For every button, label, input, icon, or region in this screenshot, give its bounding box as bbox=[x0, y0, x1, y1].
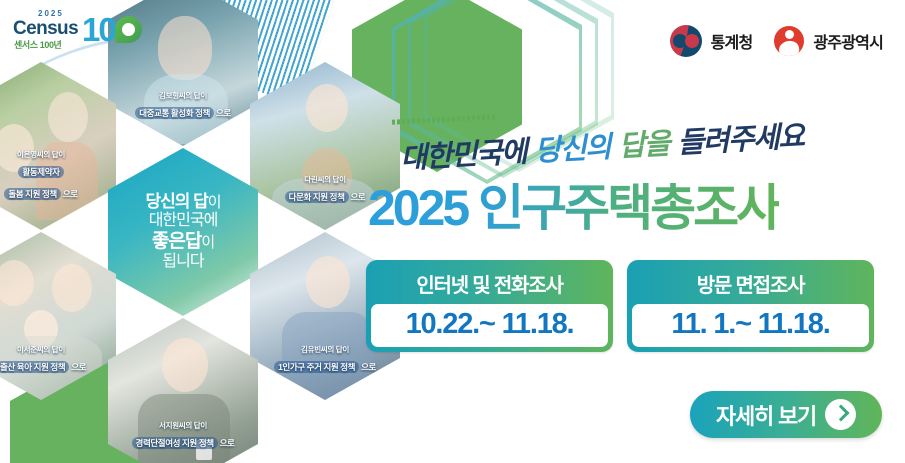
caption-young-family: 이서준씨의 답이 출산 육아 지원 정책 으로 bbox=[0, 345, 116, 377]
view-details-label: 자세히 보기 bbox=[716, 399, 816, 431]
logo-korean-subtitle: 센서스 100년 bbox=[14, 38, 61, 51]
agency-logos: 통계청 광주광역시 bbox=[670, 25, 883, 57]
agency-gwangju-city[interactable]: 광주광역시 bbox=[774, 26, 883, 56]
caption-bus-commuter: 김보형씨의 답이 대중교통 활성화 정책 으로 bbox=[108, 91, 258, 123]
caption-policy: 대중교통 활성화 정책 으로 bbox=[135, 108, 231, 119]
logo-year: 2025 bbox=[38, 9, 64, 18]
survey-box-internet-phone[interactable]: 인터넷 및 전화조사 10.22.~ 11.18. bbox=[366, 260, 613, 352]
slogan-line1-strong: 당신의 답 bbox=[145, 192, 207, 211]
chevron-right-circle-icon bbox=[825, 399, 856, 430]
census-banner: 김보형씨의 답이 대중교통 활성화 정책 으로 이은영씨의 답이 활동제약자 돌… bbox=[0, 0, 905, 463]
headline-part-3: 답을 bbox=[618, 126, 679, 163]
agency-name: 광주광역시 bbox=[813, 29, 883, 53]
agency-statistics-korea[interactable]: 통계청 bbox=[670, 25, 753, 57]
caption-policy-line1: 활동제약자 bbox=[18, 167, 63, 178]
slogan-line3-strong: 좋은답 bbox=[152, 231, 201, 252]
caption-name: 서지원씨의 답이 bbox=[114, 421, 252, 431]
person-hexagon-young-family[interactable]: 이서준씨의 답이 출산 육아 지원 정책 으로 bbox=[0, 232, 116, 400]
caption-name: 이은영씨의 답이 bbox=[0, 150, 110, 160]
slogan-line3-thin: 이 bbox=[201, 234, 214, 251]
photo-caregiver bbox=[0, 62, 116, 230]
caption-policy: 다문화 지원 정책 으로 bbox=[285, 192, 366, 203]
caption-policy: 경력단절여성 지원 정책 으로 bbox=[132, 438, 235, 449]
headline-part-4: 들려주세요 bbox=[677, 119, 805, 160]
person-hexagon-caregiver[interactable]: 이은영씨의 답이 활동제약자 돌봄 지원 정책 으로 bbox=[0, 62, 116, 230]
survey-box-date-range: 10.22.~ 11.18. bbox=[371, 304, 608, 347]
census-logo[interactable]: 2025 Census 센서스 100년 100 bbox=[10, 9, 135, 51]
caption-career-break: 서지원씨의 답이 경력단절여성 지원 정책 으로 bbox=[108, 421, 258, 453]
survey-box-title: 방문 면접조사 bbox=[632, 265, 869, 304]
logo-wordmark: Census bbox=[13, 18, 78, 40]
headline-part-1: 대한민국에 bbox=[399, 134, 535, 175]
slogan-hexagon: 당신의 답이 대한민국에 좋은답이 됩니다 bbox=[108, 148, 258, 316]
caption-policy: 1인가구 주거 지원 정책 으로 bbox=[274, 362, 376, 373]
gwangju-emblem-icon bbox=[774, 26, 804, 56]
caption-policy-line2: 돌봄 지원 정책 으로 bbox=[4, 189, 77, 200]
slogan-text: 당신의 답이 대한민국에 좋은답이 됩니다 bbox=[145, 192, 220, 272]
people-hexagon-cluster: 김보형씨의 답이 대중교통 활성화 정책 으로 이은영씨의 답이 활동제약자 돌… bbox=[0, 0, 380, 463]
view-details-button[interactable]: 자세히 보기 bbox=[690, 391, 882, 438]
headline-part-2: 당신의 bbox=[534, 129, 620, 168]
survey-box-visit-interview[interactable]: 방문 면접조사 11. 1.~ 11.18. bbox=[627, 260, 874, 352]
headline-handwritten: 대한민국에 당신의 답을 들려주세요 bbox=[399, 113, 804, 177]
caption-name: 이서준씨의 답이 bbox=[0, 345, 110, 355]
survey-period-boxes: 인터넷 및 전화조사 10.22.~ 11.18. 방문 면접조사 11. 1.… bbox=[366, 260, 874, 352]
agency-name: 통계청 bbox=[711, 29, 753, 53]
caption-policy: 출산 육아 지원 정책 으로 bbox=[0, 362, 86, 373]
survey-box-title: 인터넷 및 전화조사 bbox=[371, 265, 608, 304]
survey-box-date-range: 11. 1.~ 11.18. bbox=[632, 304, 869, 347]
headline-dashed-rule bbox=[392, 114, 497, 124]
caption-name: 김보형씨의 답이 bbox=[114, 91, 252, 101]
taegeuk-icon bbox=[670, 25, 702, 57]
slogan-line4: 됩니다 bbox=[145, 253, 220, 272]
person-hexagon-career-break[interactable]: 서지원씨의 답이 경력단절여성 지원 정책 으로 bbox=[108, 318, 258, 463]
slogan-line2: 대한민국에 bbox=[145, 212, 220, 231]
leaf-swirl-icon bbox=[115, 16, 142, 43]
caption-caregiver: 이은영씨의 답이 활동제약자 돌봄 지원 정책 으로 bbox=[0, 150, 116, 203]
slogan-line1-thin: 이 bbox=[208, 194, 221, 211]
page-title: 2025 인구주택총조사 bbox=[368, 183, 779, 233]
